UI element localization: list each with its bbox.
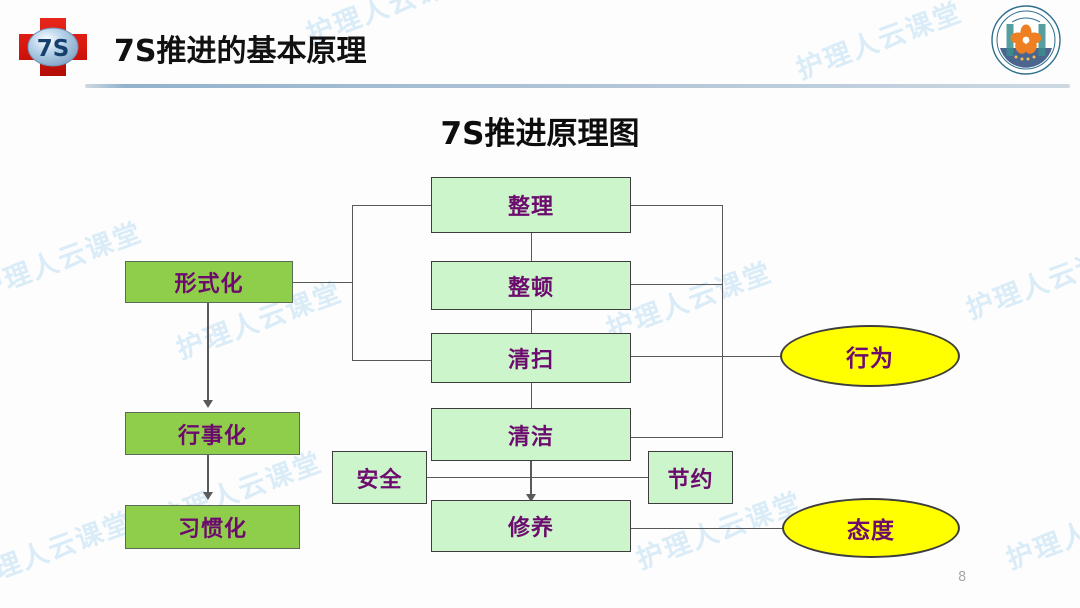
- connector-seiso-seiketsu: [531, 383, 532, 408]
- header-divider: [85, 84, 1070, 88]
- connector-right-bracket-vertical: [722, 205, 723, 437]
- node-seiton[interactable]: 整顿: [431, 261, 631, 310]
- node-label: 清扫: [508, 342, 554, 374]
- node-label: 安全: [356, 462, 402, 494]
- node-safety[interactable]: 安全: [332, 451, 427, 504]
- node-routinization[interactable]: 行事化: [125, 412, 300, 455]
- connector-seiri-seiton: [531, 233, 532, 261]
- node-seiketsu[interactable]: 清洁: [431, 408, 631, 461]
- node-seiso[interactable]: 清扫: [431, 333, 631, 383]
- connector-seiton-seiso: [531, 310, 532, 333]
- node-label: 形式化: [174, 266, 243, 298]
- arrowhead-formalization-routinization: [203, 400, 213, 408]
- connector-seiton-right: [631, 284, 723, 285]
- node-label: 清洁: [508, 419, 554, 451]
- node-seiri[interactable]: 整理: [431, 177, 631, 233]
- connector-bracket-to-seiri: [352, 205, 432, 206]
- node-label: 行事化: [178, 418, 247, 450]
- node-behavior[interactable]: 行为: [780, 325, 960, 387]
- connector-seiri-right: [631, 205, 723, 206]
- node-label: 整顿: [508, 270, 554, 302]
- node-label: 行为: [846, 339, 894, 373]
- connector-left-bracket-vertical: [352, 205, 353, 361]
- connector-safety-to-saving: [427, 477, 648, 478]
- page-number: 8: [958, 570, 966, 585]
- school-emblem-icon: [990, 4, 1062, 76]
- connector-shitsuke-to-attitude: [631, 528, 783, 529]
- node-formalization[interactable]: 形式化: [125, 261, 293, 303]
- node-label: 节约: [667, 462, 713, 494]
- slide-header: 7S 7S推进的基本原理: [0, 0, 1080, 92]
- node-attitude[interactable]: 态度: [782, 498, 960, 558]
- node-label: 整理: [508, 189, 554, 221]
- connector-formalization-stub: [293, 282, 353, 283]
- red-cross-7s-icon: 7S: [17, 16, 89, 78]
- node-label: 修养: [508, 510, 554, 542]
- connector-seiketsu-right: [631, 437, 723, 438]
- node-label: 习惯化: [178, 511, 247, 543]
- connector-formalization-routinization: [207, 303, 209, 403]
- node-shitsuke[interactable]: 修养: [431, 500, 631, 552]
- node-saving[interactable]: 节约: [648, 451, 733, 504]
- node-label: 态度: [847, 511, 895, 545]
- diagram-title: 7S推进原理图: [0, 108, 1080, 153]
- page-title: 7S推进的基本原理: [114, 26, 366, 70]
- node-habituation[interactable]: 习惯化: [125, 505, 300, 549]
- connector-bracket-to-seiso: [352, 360, 432, 361]
- connector-seiso-to-behavior: [631, 356, 781, 357]
- svg-text:7S: 7S: [37, 36, 70, 62]
- arrowhead-routinization-habituation: [203, 492, 213, 500]
